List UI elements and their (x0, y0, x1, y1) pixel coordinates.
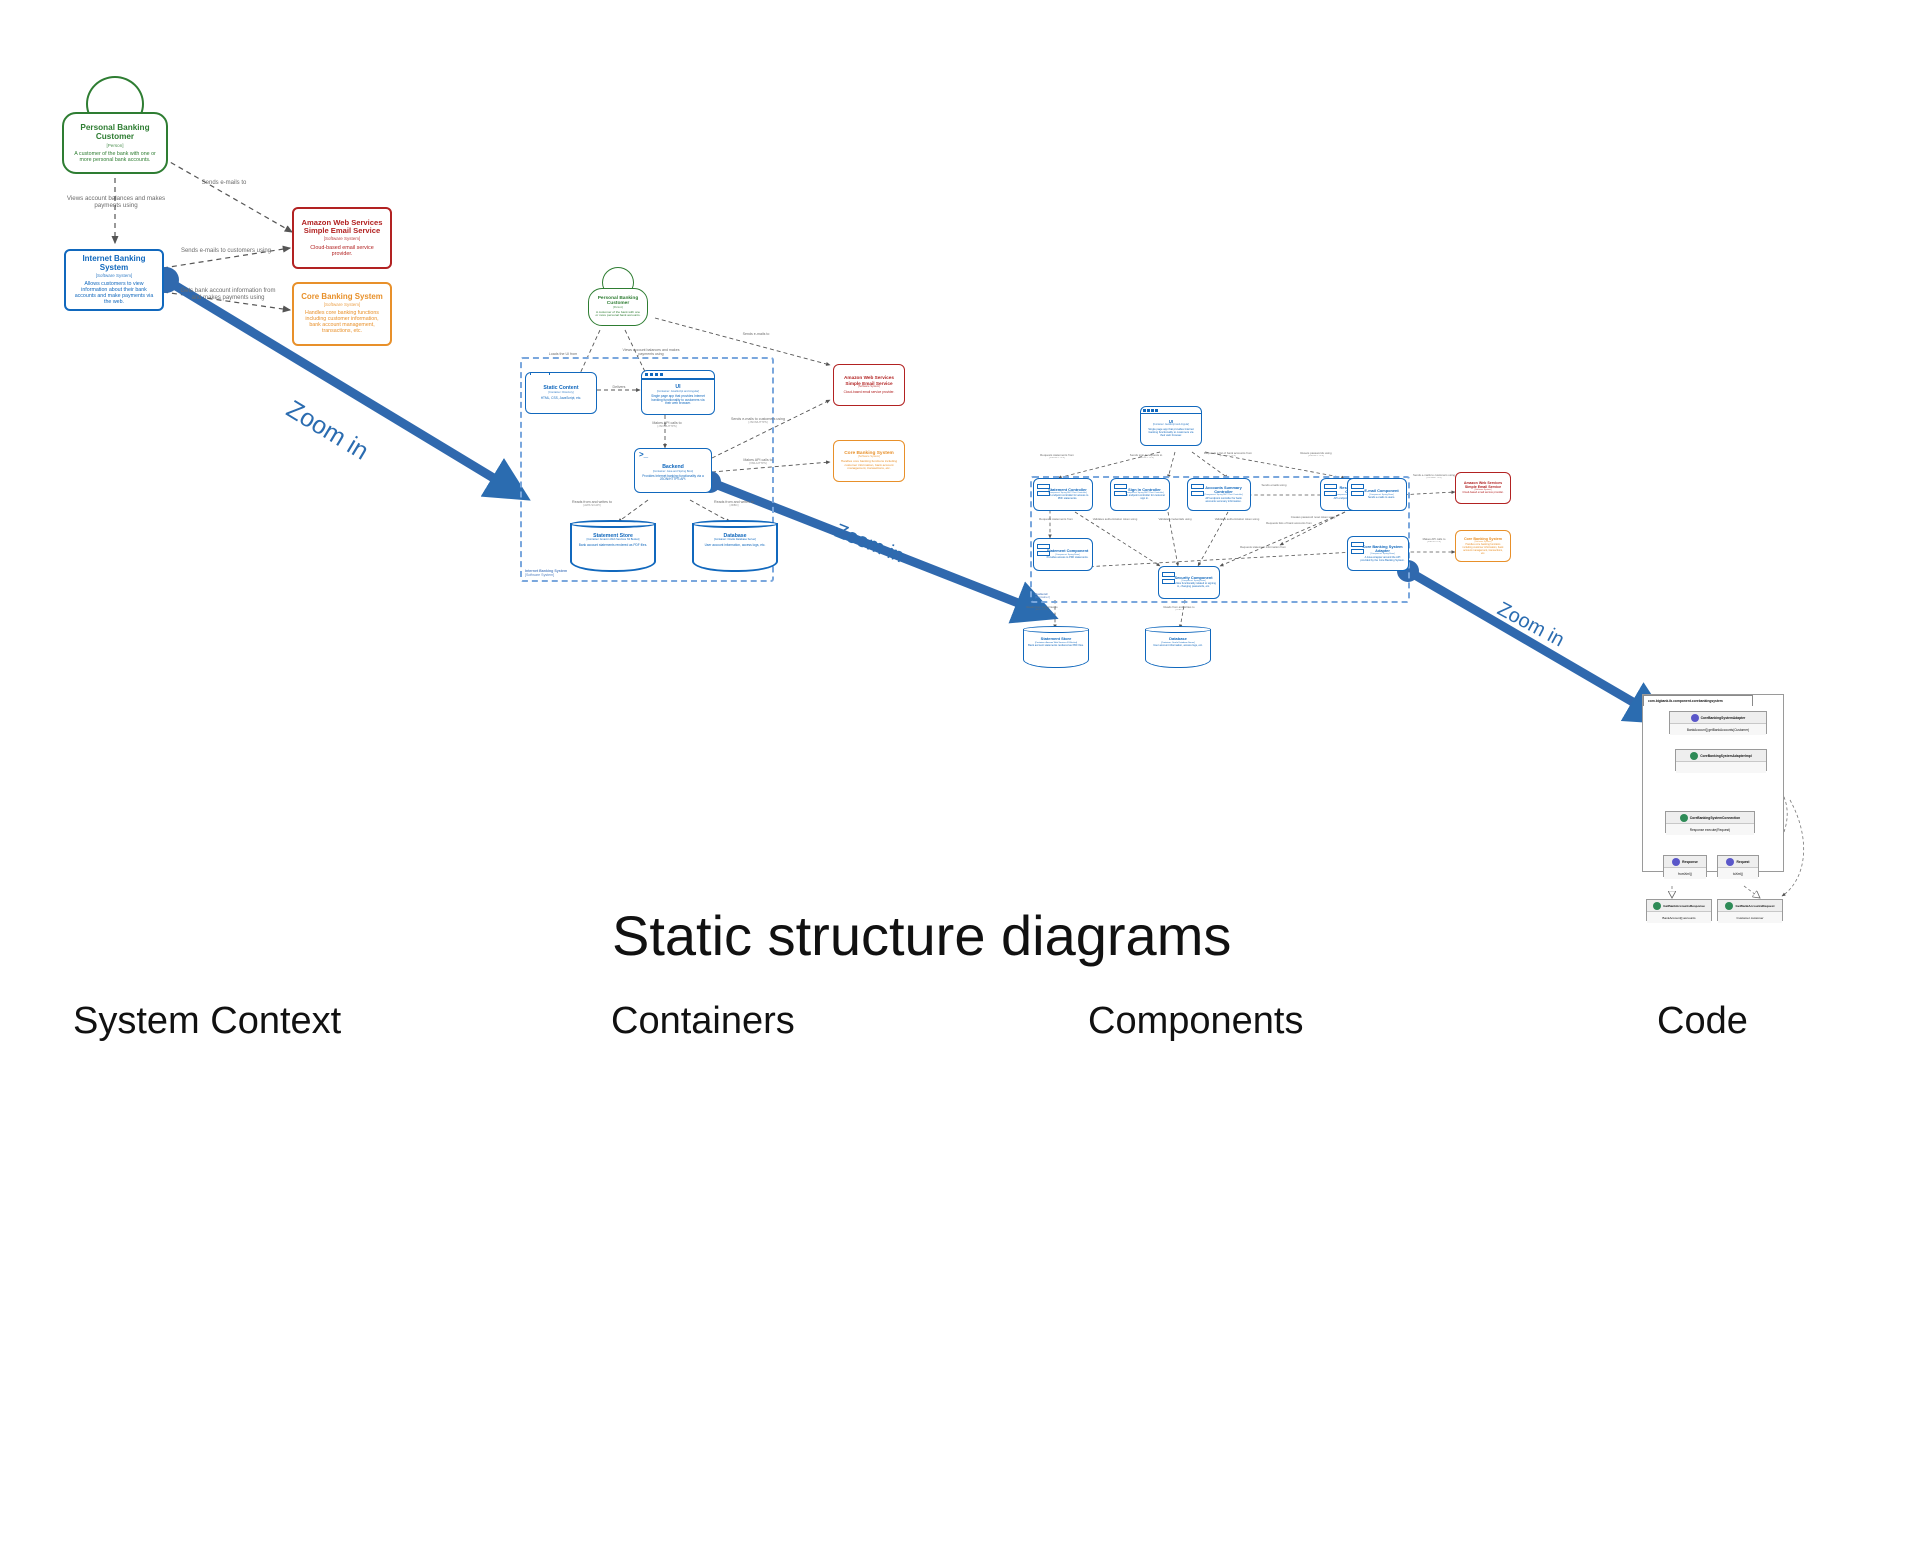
element-stereotype: [Container: Java and Spring Boot] (653, 471, 693, 474)
cp-rel-makes-api-calls-to: Makes API calls to [XML/HTTPS] (1412, 538, 1456, 544)
element-stereotype: [Person] (613, 307, 623, 310)
element-stereotype: [Software System] (324, 237, 361, 242)
interface-marker-icon (1672, 858, 1680, 866)
interface-marker-icon (1691, 714, 1699, 722)
sc-system-aws-ses[interactable]: Amazon Web Services Simple Email Service… (292, 207, 392, 269)
uml-header: GetBankAccountsRequest (1718, 900, 1782, 912)
element-stereotype: [Software System] (1475, 541, 1492, 543)
cp-rel-validates-credentials-using: Validates credentials using (1150, 518, 1200, 521)
uml-header: CoreBankingSystemAdapterImpl (1676, 750, 1766, 762)
element-description: A customer of the bank with one or more … (67, 151, 163, 163)
ct-rel-sends-emails-to: Sends e-mails to (726, 332, 786, 336)
cp-rel-validates-authentication-token-1: Validates authentication token using (1090, 518, 1140, 521)
cp-component-core-banking-system-adapter[interactable]: Core Banking System Adapter [Component: … (1347, 536, 1409, 571)
uml-member: BankAccount[] accounts (1647, 912, 1711, 923)
cp-rel-creates-password-reset-token: Creates password reset token using (1288, 516, 1338, 519)
element-stereotype: [Person] (106, 143, 123, 148)
element-description: Cloud-based email service provider. (841, 391, 898, 395)
sc-rel-gets-bank-account-info: Gets bank account information from and m… (178, 288, 278, 301)
uml-class-name: CoreBankingSystemAdapterImpl (1700, 754, 1751, 758)
ct-rel-loads-the-ui-from: Loads the UI from (530, 352, 596, 356)
relationship-tech: [JSON/HTTPS] (1288, 455, 1344, 458)
element-text: Database [Container: Oracle Database Ser… (695, 534, 774, 549)
cp-rel-sends-emails-using: Sends emails using (1252, 484, 1296, 487)
cp-rel-reads-writes-statement-store: Reads from and writes to [AWS S3 API] (1012, 606, 1072, 612)
relationship-label: Creates password reset token using (1291, 515, 1336, 519)
ct-rel-makes-api-calls-to-cbs: Makes API calls to [XML/HTTPS] (730, 458, 786, 465)
relationship-tech: [JDBC] (1148, 609, 1210, 611)
uml-class-core-banking-system-adapter[interactable]: CoreBankingSystemAdapter BankAccount[] g… (1669, 711, 1767, 734)
page-title: Static structure diagrams (612, 903, 1231, 968)
element-text: Statement Store [Container: Amazon Web S… (573, 534, 652, 549)
ct-system-core-banking-system[interactable]: Core Banking System [Software System] Ha… (833, 440, 905, 482)
component-icon (1037, 544, 1050, 558)
uml-member: Customer customer (1718, 912, 1782, 923)
sc-rel-views-account-balances: Views account balances and makes payment… (62, 196, 170, 210)
element-description: HTML, CSS, JavaScript, etc. (541, 397, 582, 401)
cp-rel-requests-statement-information-from: Requests statement information from (1232, 546, 1294, 549)
relationship-label: Sends e-mails to (743, 332, 770, 336)
element-description: API endpoint controller for bank account… (1200, 498, 1247, 504)
ct-container-database[interactable]: Database [Container: Oracle Database Ser… (692, 520, 778, 572)
sc-system-core-banking-system[interactable]: Core Banking System [Software System] Ha… (292, 282, 392, 346)
cp-container-database[interactable]: Database [Container: Oracle Database Ser… (1145, 626, 1211, 668)
element-stereotype: [Container: JavaScript and Angular] (657, 391, 699, 394)
relationship-label: Views account balances and makes payment… (67, 195, 165, 209)
element-stereotype: [Software System] (96, 274, 133, 279)
relationship-label: Delivers (613, 385, 626, 389)
caption-system-context: System Context (73, 1000, 341, 1043)
component-icon (1351, 484, 1364, 498)
uml-class-name: CoreBankingSystemAdapter (1701, 716, 1746, 720)
class-marker-icon (1680, 814, 1688, 822)
cp-rel-reads-writes-database: Reads from and writes to [JDBC] (1148, 606, 1210, 612)
element-description: A customer of the bank with one or more … (592, 311, 644, 318)
element-description: Sends e-mails to users. (1368, 497, 1395, 500)
boundary-stereotype: [Container] (1035, 595, 1050, 599)
relationship-tech: [JSON/HTTPS] (1200, 455, 1256, 458)
uml-class-name: GetBankAccountsRequest (1735, 904, 1774, 908)
cp-component-statement-controller[interactable]: Statement Controller [Component: Spring … (1033, 478, 1093, 511)
relationship-label: Gets bank account information from and m… (180, 288, 275, 301)
cylinder-body (1023, 629, 1089, 668)
element-stereotype: [Container: Amazon Web Services S3 Bucke… (573, 539, 652, 542)
caption-components: Components (1088, 1000, 1303, 1043)
ct-container-static-content[interactable]: Static Content [Container: Directory] HT… (525, 372, 597, 414)
element-stereotype: [Component: Spring MVC Rest Controller] (1048, 492, 1087, 494)
ct-rel-delivers: Delivers (600, 385, 638, 389)
folder-icon (530, 372, 550, 375)
cylinder-body (1145, 629, 1211, 668)
element-stereotype: [Component: Spring Bean] (1369, 494, 1394, 496)
element-description: Handles core banking functions including… (297, 310, 387, 334)
relationship-tech: [AWS S3 API] (558, 504, 626, 507)
relationship-tech: [JSON/HTTPS] (730, 421, 786, 424)
element-stereotype: [Software System] (1475, 489, 1492, 491)
element-description: Single page app that provides Internet b… (645, 395, 711, 406)
cp-component-statement-component[interactable]: Statement Component [Component: Spring B… (1033, 538, 1093, 571)
uml-class-core-banking-system-adapter-impl[interactable]: CoreBankingSystemAdapterImpl (1675, 749, 1767, 771)
element-stereotype: [Component: Spring MVC Rest Controller] (1125, 492, 1164, 494)
cp-rel-resets-passwords-using: Resets passwords using [JSON/HTTPS] (1288, 452, 1344, 458)
cp-component-accounts-summary-controller[interactable]: Accounts Summary Controller [Component: … (1187, 478, 1251, 511)
uml-member: Response execute(Request) (1666, 824, 1754, 835)
relationship-label: Sends emails using (1261, 483, 1286, 487)
cp-rel-sends-emails-to-customers-using: Sends e-mails to customers using [JSON/H… (1412, 474, 1456, 480)
cylinder-top (1023, 626, 1089, 633)
ct-container-statement-store[interactable]: Statement Store [Container: Amazon Web S… (570, 520, 656, 572)
boundary-label: Backend [Container] (1035, 593, 1050, 599)
uml-member: BankAccount[] getBankAccounts(Customer) (1670, 724, 1766, 735)
ct-rel-makes-api-calls-to-ui-backend: Makes API calls to [JSON/HTTPS] (640, 421, 694, 428)
element-text: Database [Container: Oracle Database Ser… (1148, 637, 1209, 648)
uml-member: toXml() (1718, 868, 1758, 879)
relationship-label: Requests statement information from (1240, 545, 1286, 549)
component-icon (1191, 484, 1204, 498)
relationship-tech: [JSON/HTTPS] (1028, 457, 1086, 460)
cylinder-top (1145, 626, 1211, 633)
element-description: Bank account statements rendered as PDF … (1026, 645, 1087, 648)
uml-member: fromXml() (1664, 868, 1706, 879)
sc-rel-sends-emails-to-customers: Sends e-mails to customers using (178, 248, 274, 255)
element-stereotype: [Software System] (858, 456, 880, 459)
cp-container-ui[interactable]: UI [Container: JavaScript and Angular] S… (1140, 406, 1202, 446)
package-label: com.bigbank.ib.component.corebankingsyst… (1643, 695, 1753, 706)
code-uml-panel[interactable]: com.bigbank.ib.component.corebankingsyst… (1642, 694, 1784, 872)
component-icon (1351, 542, 1364, 556)
element-description: Single page app that provides Internet b… (1144, 428, 1198, 437)
ct-person-personal-banking-customer[interactable]: Personal Banking Customer [Person] A cus… (588, 288, 648, 326)
uml-class-request[interactable]: Request toXml() (1717, 855, 1759, 877)
cp-rel-requests-statements-from-ui: Requests statements from [JSON/HTTPS] (1028, 454, 1086, 460)
ct-system-aws-ses[interactable]: Amazon Web Services Simple Email Service… (833, 364, 905, 406)
element-stereotype: [Container: JavaScript and Angular] (1153, 424, 1189, 427)
ct-container-ui[interactable]: UI [Container: JavaScript and Angular] S… (641, 370, 715, 415)
cp-system-aws-ses[interactable]: Amazon Web Services Simple Email Service… (1455, 472, 1511, 504)
cp-system-core-banking-system[interactable]: Core Banking System [Software System] Ha… (1455, 530, 1511, 562)
relationship-tech: [XML/HTTPS] (1412, 541, 1456, 543)
relationship-tech: [JDBC] (700, 504, 768, 507)
relationship-tech: [JSON/HTTPS] (1412, 477, 1456, 479)
relationship-label: Sends e-mails to customers using (181, 248, 271, 254)
caption-containers: Containers (611, 1000, 795, 1043)
element-description: API endpoint controller for access to PD… (1046, 495, 1089, 501)
uml-class-get-bank-accounts-response[interactable]: GetBankAccountsResponse BankAccount[] ac… (1646, 899, 1712, 921)
component-icon (1037, 484, 1050, 498)
zoom-in-label-3: Zoom in (1493, 598, 1568, 652)
cp-rel-sends-sign-in-requests-to: Sends sign in requests to [JSON/HTTPS] (1118, 454, 1174, 460)
component-icon (1114, 484, 1127, 498)
relationship-label: Validates authentication token using (1215, 517, 1260, 521)
relationship-label: Validates authentication token using (1093, 517, 1138, 521)
boundary-label: Internet Banking System [Software System… (525, 570, 567, 578)
element-stereotype: [Software System] (324, 303, 361, 308)
cp-component-security-component[interactable]: Security Component [Component: Spring Be… (1158, 566, 1220, 599)
sc-rel-sends-emails-to: Sends e-mails to (178, 180, 270, 187)
relationship-label: Requests statements from (1039, 517, 1073, 521)
cp-component-sign-in-controller[interactable]: Sign In Controller [Component: Spring MV… (1110, 478, 1170, 511)
uml-class-name: CoreBankingSystemConnection (1690, 816, 1740, 820)
element-stereotype: [Component: Spring Bean] (1370, 553, 1395, 555)
element-description: Bank account statements rendered as PDF … (573, 544, 652, 548)
uml-header: Request (1718, 856, 1758, 868)
ct-rel-reads-writes-statement-store: Reads from and writes to [AWS S3 API] (558, 500, 626, 507)
uml-header: GetBankAccountsResponse (1647, 900, 1711, 912)
sc-person-personal-banking-customer[interactable]: Personal Banking Customer [Person] A cus… (62, 112, 168, 174)
element-stereotype: [Component: Spring Bean] (1181, 580, 1206, 582)
class-marker-icon (1690, 752, 1698, 760)
slide-canvas: Personal Banking Customer [Person] A cus… (0, 0, 1920, 1080)
element-description: Allows customers to view information abo… (69, 281, 159, 305)
uml-class-response[interactable]: Response fromXml() (1663, 855, 1707, 877)
element-name: Amazon Web Services Simple Email Service (297, 219, 387, 236)
interface-marker-icon (1726, 858, 1734, 866)
relationship-tech: [JSON/HTTPS] (640, 425, 694, 428)
element-description: Cloud-based email service provider. (1460, 492, 1505, 495)
relationship-label: Views account balances and makes payment… (622, 348, 679, 356)
relationship-label: Sends e-mails to (202, 180, 247, 186)
element-description: User account information, access logs, e… (695, 544, 774, 548)
element-description: Handles core banking functions including… (837, 460, 901, 471)
relationship-tech: [JSON/HTTPS] (1118, 457, 1174, 460)
element-name: Accounts Summary Controller (1200, 486, 1247, 495)
element-description: User account information, access logs, e… (1148, 645, 1209, 648)
class-marker-icon (1653, 902, 1661, 910)
relationship-label: Requests lists of bank accounts from (1266, 521, 1312, 525)
ct-rel-views-account-balances: Views account balances and makes payment… (618, 348, 684, 356)
relationship-tech: [AWS S3 API] (1012, 609, 1072, 611)
uml-class-name: Response (1682, 860, 1698, 864)
ct-rel-reads-writes-database: Reads from and writes to [JDBC] (700, 500, 768, 507)
cp-rel-requests-lists-of-bank-accounts: Requests lists of bank accounts from (1262, 522, 1316, 525)
element-description: Cloud-based email service provider. (297, 245, 387, 257)
class-marker-icon (1725, 902, 1733, 910)
zoom-in-label-1: Zoom in (281, 395, 373, 466)
relationship-label: Validates credentials using (1158, 517, 1191, 521)
element-stereotype: [Software System] (858, 386, 880, 389)
element-description: Handles core banking functions including… (1459, 544, 1507, 556)
relationship-label: Loads the UI from (549, 352, 578, 356)
uml-class-core-banking-system-connection[interactable]: CoreBankingSystemConnection Response exe… (1665, 811, 1755, 833)
uml-class-name: GetBankAccountsResponse (1663, 904, 1705, 908)
element-description: API endpoint controller for customer sig… (1123, 495, 1166, 501)
uml-class-get-bank-accounts-request[interactable]: GetBankAccountsRequest Customer customer (1717, 899, 1783, 921)
uml-header: CoreBankingSystemConnection (1666, 812, 1754, 824)
ct-rel-sends-emails-to-customers-using: Sends e-mails to customers using [JSON/H… (730, 417, 786, 424)
element-stereotype: [Container: Oracle Database Server] (695, 539, 774, 542)
element-name: Personal Banking Customer (67, 123, 163, 141)
element-stereotype: [Container: Directory] (548, 392, 573, 395)
element-description: A Java wrapper around the API provided b… (1360, 557, 1405, 563)
relationship-tech: [XML/HTTPS] (730, 462, 786, 465)
cp-rel-requests-statements-from-component: Requests statements from (1026, 518, 1086, 521)
ct-container-backend[interactable]: >_ Backend [Container: Java and Spring B… (634, 448, 712, 493)
element-name: Core Banking System Adapter (1360, 545, 1405, 554)
element-text: Statement Store [Container: Amazon Web S… (1026, 637, 1087, 648)
uml-class-name: Request (1736, 860, 1749, 864)
uml-header: CoreBankingSystemAdapter (1670, 712, 1766, 724)
zoom-in-label-2: Zoom in (831, 520, 907, 568)
cp-container-statement-store[interactable]: Statement Store [Container: Amazon Web S… (1023, 626, 1089, 668)
element-name: Amazon Web Services Simple Email Service (1459, 481, 1507, 489)
component-icon (1162, 572, 1175, 586)
element-stereotype: [Component: Spring Bean] (1055, 554, 1080, 556)
browser-icon (642, 371, 714, 380)
boundary-stereotype: [Software System] (525, 573, 554, 577)
cp-rel-validates-authentication-token-2: Validates authentication token using (1212, 518, 1262, 521)
element-description: Provides access to PDF statements. (1047, 557, 1089, 560)
element-name: Internet Banking System (69, 255, 159, 273)
cp-rel-requests-list-of-bank-accounts: Requests a list of bank accounts from [J… (1200, 452, 1256, 458)
caption-code: Code (1657, 1000, 1748, 1043)
element-stereotype: [Component: Spring MVC Rest Controller] (1204, 494, 1243, 496)
terminal-icon: >_ (639, 451, 648, 459)
element-description: Provides Internet banking functionality … (638, 475, 708, 482)
uml-header: Response (1664, 856, 1706, 868)
cp-component-email-component[interactable]: E-mail Component [Component: Spring Bean… (1347, 478, 1407, 511)
browser-icon (1141, 407, 1201, 414)
element-description: Provides functionality related to signin… (1171, 583, 1216, 589)
uml-member (1676, 762, 1766, 773)
sc-system-internet-banking-system[interactable]: Internet Banking System [Software System… (64, 249, 164, 311)
element-name: Core Banking System (301, 293, 383, 302)
